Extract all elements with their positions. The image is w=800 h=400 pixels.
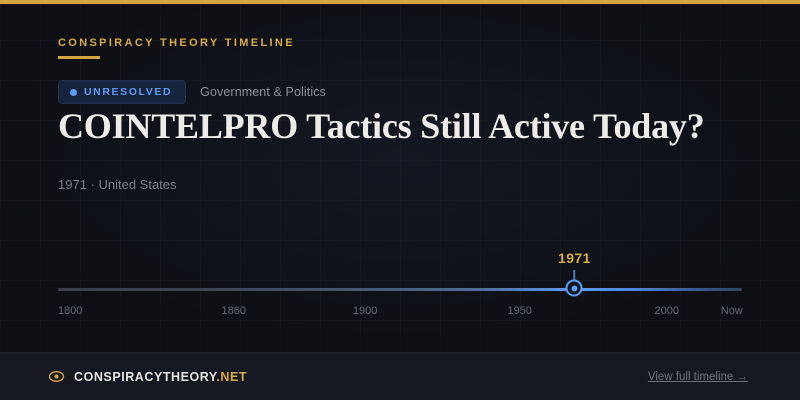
status-badge[interactable]: UNRESOLVED xyxy=(58,80,186,104)
eyebrow-underline xyxy=(58,56,100,59)
category-label: Government & Politics xyxy=(200,85,326,99)
eye-icon xyxy=(48,368,65,385)
footer-brand[interactable]: CONSPIRACYTHEORY.NET xyxy=(48,368,247,385)
meta-line: 1971 · United States xyxy=(58,177,177,192)
brand-name-text: CONSPIRACYTHEORY xyxy=(74,370,216,384)
page-title: COINTELPRO Tactics Still Active Today? xyxy=(58,104,705,148)
timeline-tick-3: 1950 xyxy=(507,305,531,317)
page-stage: CONSPIRACY THEORY TIMELINE UNRESOLVED Go… xyxy=(0,0,800,400)
timeline-tick-labels: 18001860190019502000Now xyxy=(58,305,742,323)
timeline-tick-1: 1860 xyxy=(222,305,246,317)
timeline-marker-handle[interactable] xyxy=(566,280,583,297)
status-badge-label: UNRESOLVED xyxy=(84,86,172,98)
view-full-timeline-link[interactable]: View full timeline → xyxy=(648,371,748,383)
timeline-slider[interactable]: 1971 18001860190019502000Now xyxy=(58,250,742,325)
timeline-tick-4: 2000 xyxy=(655,305,679,317)
timeline-track[interactable] xyxy=(58,288,742,291)
brand-tld-text: .NET xyxy=(216,370,247,384)
timeline-tick-2: 1900 xyxy=(353,305,377,317)
eyebrow-block: CONSPIRACY THEORY TIMELINE xyxy=(58,37,295,59)
eyebrow-label: CONSPIRACY THEORY TIMELINE xyxy=(58,37,295,49)
marker-core-icon xyxy=(571,285,577,291)
footer-bar: CONSPIRACYTHEORY.NET View full timeline … xyxy=(0,352,800,400)
timeline-tick-5: Now xyxy=(721,305,743,317)
timeline-marker-year: 1971 xyxy=(558,250,591,266)
status-dot-icon xyxy=(70,89,77,96)
badge-row: UNRESOLVED Government & Politics xyxy=(58,80,326,104)
timeline-tick-0: 1800 xyxy=(58,305,82,317)
footer-brand-name: CONSPIRACYTHEORY.NET xyxy=(74,370,247,384)
